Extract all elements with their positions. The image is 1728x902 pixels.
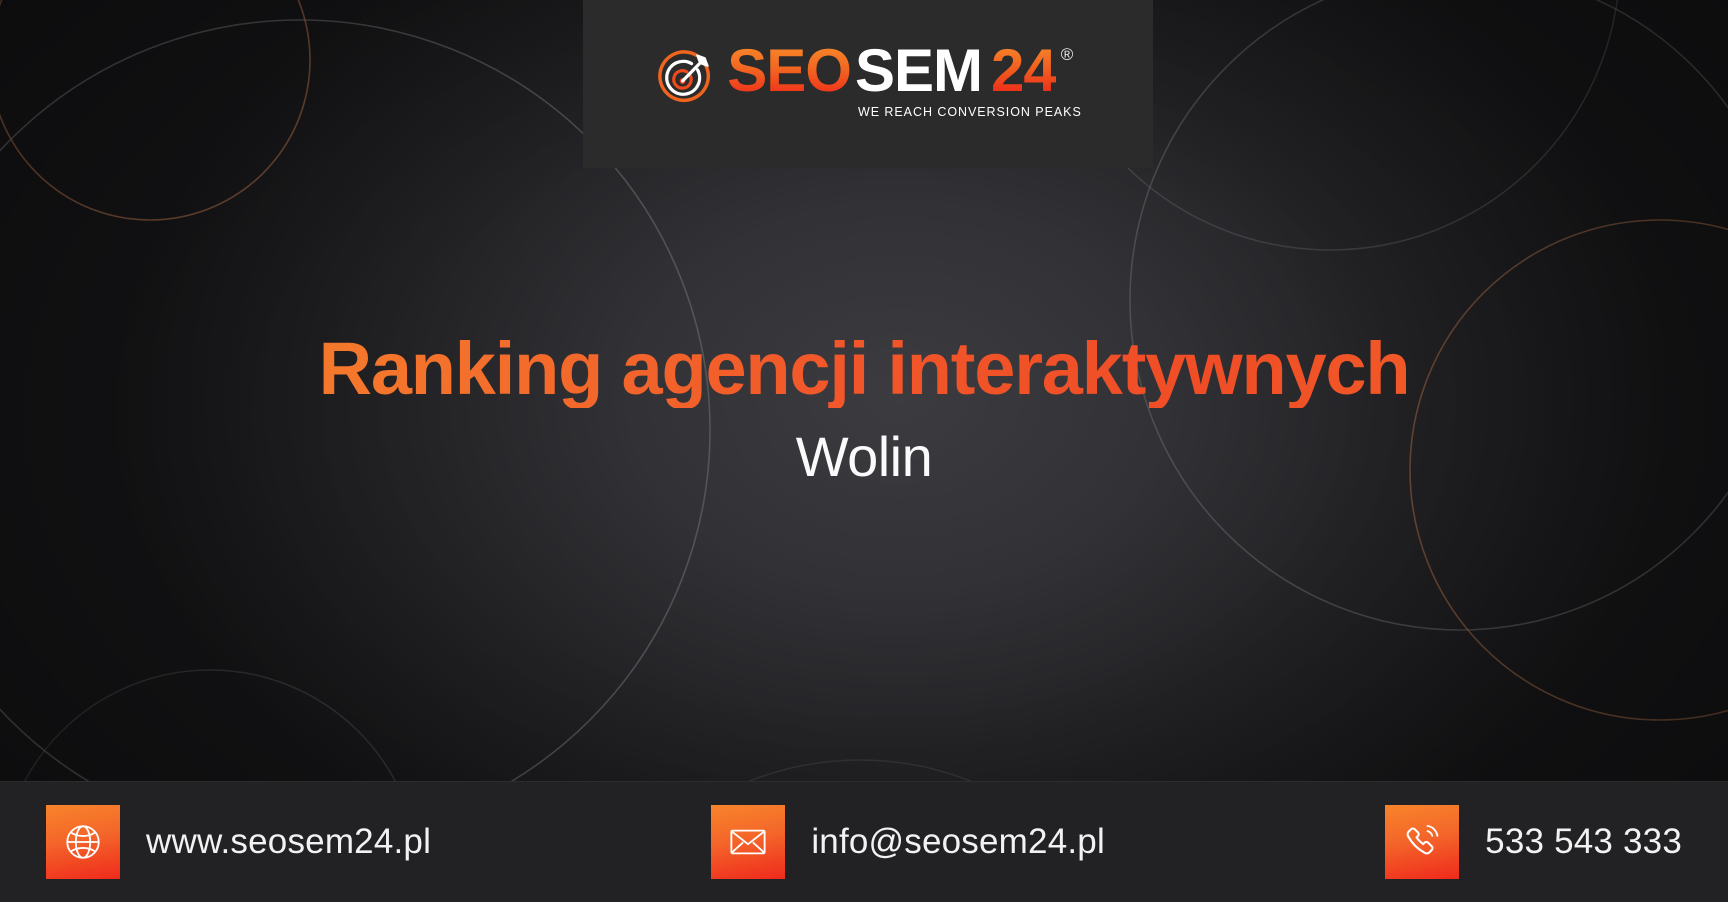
brand-logo-plate: SEO SEM 24 ® WE REACH CONVERSION PEAKS <box>583 0 1153 168</box>
phone-ringing-icon <box>1385 805 1459 879</box>
registered-trademark-symbol: ® <box>1061 46 1074 63</box>
page-subtitle: Wolin <box>0 428 1728 487</box>
brand-wordmark: SEO SEM 24 ® WE REACH CONVERSION PEAKS <box>727 41 1082 119</box>
contact-item-phone[interactable]: 533 543 333 <box>1385 805 1682 879</box>
hero-text-block: Ranking agencji interaktywnych Wolin <box>0 330 1728 487</box>
banner-canvas: SEO SEM 24 ® WE REACH CONVERSION PEAKS R… <box>0 0 1728 902</box>
contact-item-email[interactable]: info@seosem24.pl <box>711 805 1105 879</box>
brand-logo: SEO SEM 24 ® WE REACH CONVERSION PEAKS <box>654 41 1082 119</box>
email-label: info@seosem24.pl <box>811 822 1105 862</box>
contact-item-website[interactable]: www.seosem24.pl <box>46 805 431 879</box>
globe-icon <box>46 805 120 879</box>
phone-label: 533 543 333 <box>1485 822 1682 862</box>
envelope-icon <box>711 805 785 879</box>
website-label: www.seosem24.pl <box>146 822 431 862</box>
contact-footer-bar: www.seosem24.pl info@seosem24.pl <box>0 781 1728 902</box>
target-arrow-icon <box>654 49 716 111</box>
brand-name-seo: SEO <box>727 41 851 101</box>
brand-name-24: 24 <box>991 41 1056 101</box>
brand-name-sem: SEM <box>855 41 982 101</box>
brand-tagline: WE REACH CONVERSION PEAKS <box>858 105 1082 119</box>
page-title: Ranking agencji interaktywnych <box>0 330 1728 408</box>
